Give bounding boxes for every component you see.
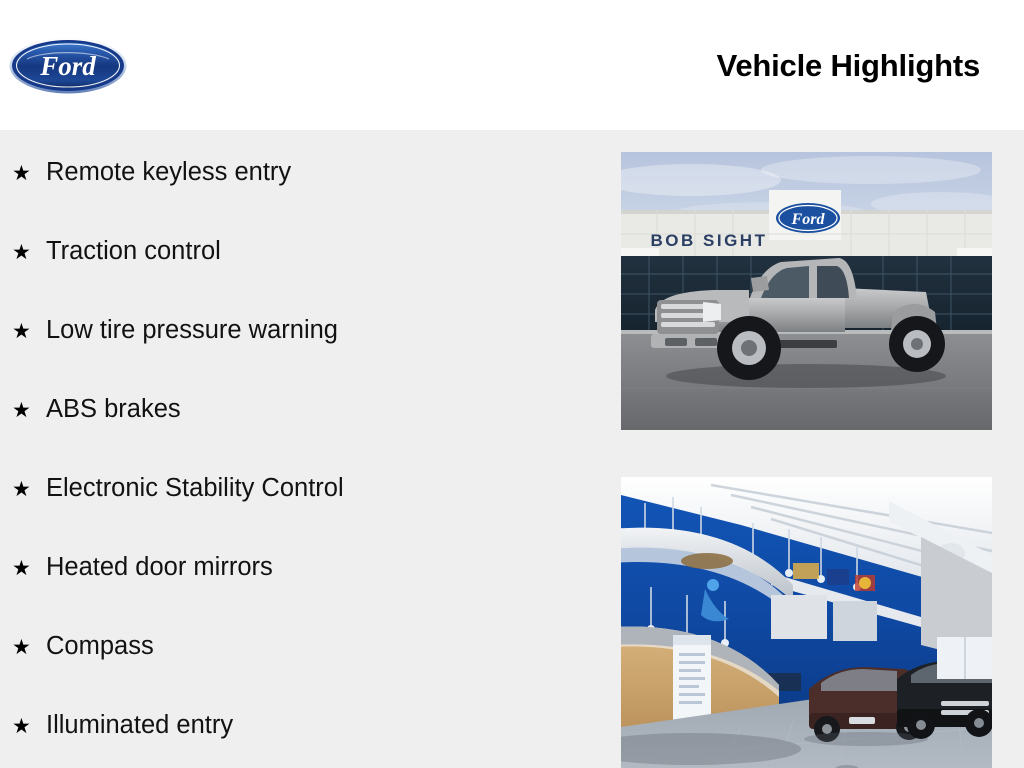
list-item: ★ ABS brakes	[12, 397, 181, 423]
list-item-label: Traction control	[46, 239, 221, 265]
svg-text:BOB SIGHT: BOB SIGHT	[651, 231, 768, 250]
star-bullet-icon: ★	[12, 637, 46, 658]
star-bullet-icon: ★	[12, 479, 46, 500]
star-bullet-icon: ★	[12, 716, 46, 737]
star-bullet-icon: ★	[12, 321, 46, 342]
star-bullet-icon: ★	[12, 400, 46, 421]
page-title: Vehicle Highlights	[717, 48, 980, 84]
star-bullet-icon: ★	[12, 558, 46, 579]
list-item: ★ Traction control	[12, 239, 221, 265]
page-header: Ford Vehicle Highlights	[0, 0, 1024, 130]
list-item: ★ Heated door mirrors	[12, 555, 273, 581]
ford-logo-icon[interactable]: Ford	[9, 37, 127, 94]
content-area: ★ Remote keyless entry ★ Traction contro…	[0, 130, 1024, 768]
list-item-label: Low tire pressure warning	[46, 318, 338, 344]
star-bullet-icon: ★	[12, 242, 46, 263]
list-item: ★ Low tire pressure warning	[12, 318, 338, 344]
svg-text:Ford: Ford	[791, 211, 826, 228]
dealership-showroom-photo[interactable]	[621, 477, 992, 768]
list-item-label: Heated door mirrors	[46, 555, 273, 581]
list-item-label: Compass	[46, 634, 154, 660]
list-item-label: ABS brakes	[46, 397, 181, 423]
svg-text:Ford: Ford	[39, 51, 96, 81]
list-item-label: Illuminated entry	[46, 713, 233, 739]
list-item: ★ Remote keyless entry	[12, 160, 291, 186]
list-item: ★ Illuminated entry	[12, 713, 233, 739]
star-bullet-icon: ★	[12, 163, 46, 184]
vehicle-exterior-photo[interactable]: Ford BOB SIGHT	[621, 152, 992, 430]
list-item-label: Electronic Stability Control	[46, 476, 344, 502]
list-item: ★ Electronic Stability Control	[12, 476, 344, 502]
list-item-label: Remote keyless entry	[46, 160, 291, 186]
list-item: ★ Compass	[12, 634, 154, 660]
